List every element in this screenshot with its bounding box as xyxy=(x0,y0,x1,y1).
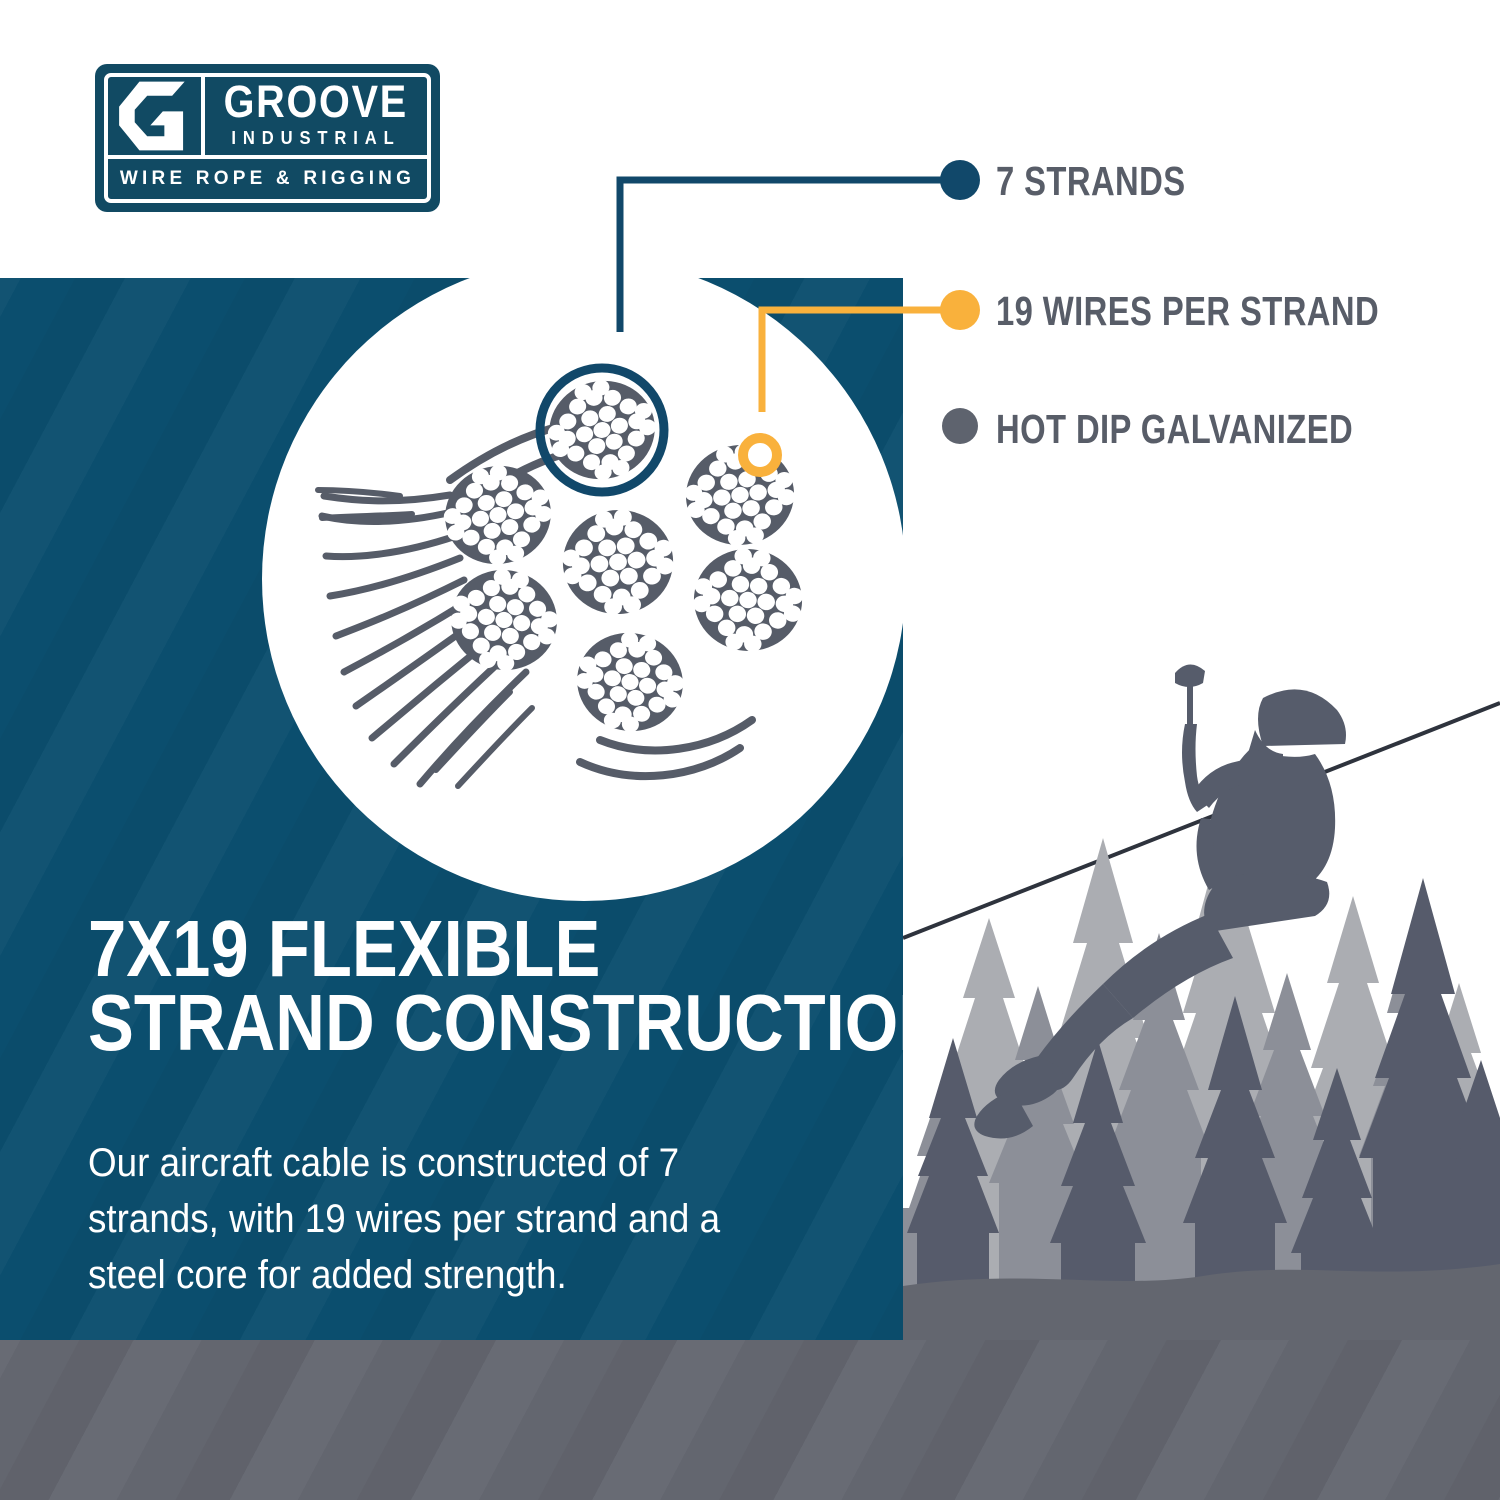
brand-subname: INDUSTRIAL xyxy=(232,126,401,151)
footer-band-stripe-texture xyxy=(0,1340,1500,1500)
page-headline: 7X19 FLEXIBLE STRAND CONSTRUCTION xyxy=(88,912,767,1059)
callout-label-galvanized: HOT DIP GALVANIZED xyxy=(996,406,1353,453)
callout-dot-galvanized xyxy=(942,408,978,444)
brand-logo-upper: GROOVE INDUSTRIAL xyxy=(108,77,427,155)
callout-label-strands: 7 STRANDS xyxy=(996,158,1186,205)
callout-label-wires: 19 WIRES PER STRAND xyxy=(996,288,1379,335)
leader-line-wires xyxy=(762,310,958,412)
brand-tagline-cell: WIRE ROPE & RIGGING xyxy=(108,155,427,199)
brand-tagline: WIRE ROPE & RIGGING xyxy=(120,168,415,190)
headline-line-1: 7X19 FLEXIBLE xyxy=(88,912,767,986)
body-line-2: strands, with 19 wires per strand and a xyxy=(88,1191,815,1247)
callout-dot-wires xyxy=(940,290,980,330)
brand-wordmark-cell: GROOVE INDUSTRIAL xyxy=(205,77,427,155)
body-line-1: Our aircraft cable is constructed of 7 xyxy=(88,1135,815,1191)
page-body-copy: Our aircraft cable is constructed of 7 s… xyxy=(88,1135,815,1303)
brand-logo-frame: GROOVE INDUSTRIAL WIRE ROPE & RIGGING xyxy=(104,73,431,203)
brand-mark-cell xyxy=(108,77,205,155)
body-line-3: steel core for added strength. xyxy=(88,1247,815,1303)
footer-band xyxy=(0,1340,1500,1500)
groove-g-icon xyxy=(116,77,194,155)
callout-dot-strands xyxy=(940,160,980,200)
infographic-canvas: 7 STRANDS 19 WIRES PER STRAND HOT DIP GA… xyxy=(0,0,1500,1500)
headline-line-2: STRAND CONSTRUCTION xyxy=(88,986,767,1060)
brand-logo[interactable]: GROOVE INDUSTRIAL WIRE ROPE & RIGGING xyxy=(95,64,440,212)
brand-name: GROOVE xyxy=(224,81,408,122)
